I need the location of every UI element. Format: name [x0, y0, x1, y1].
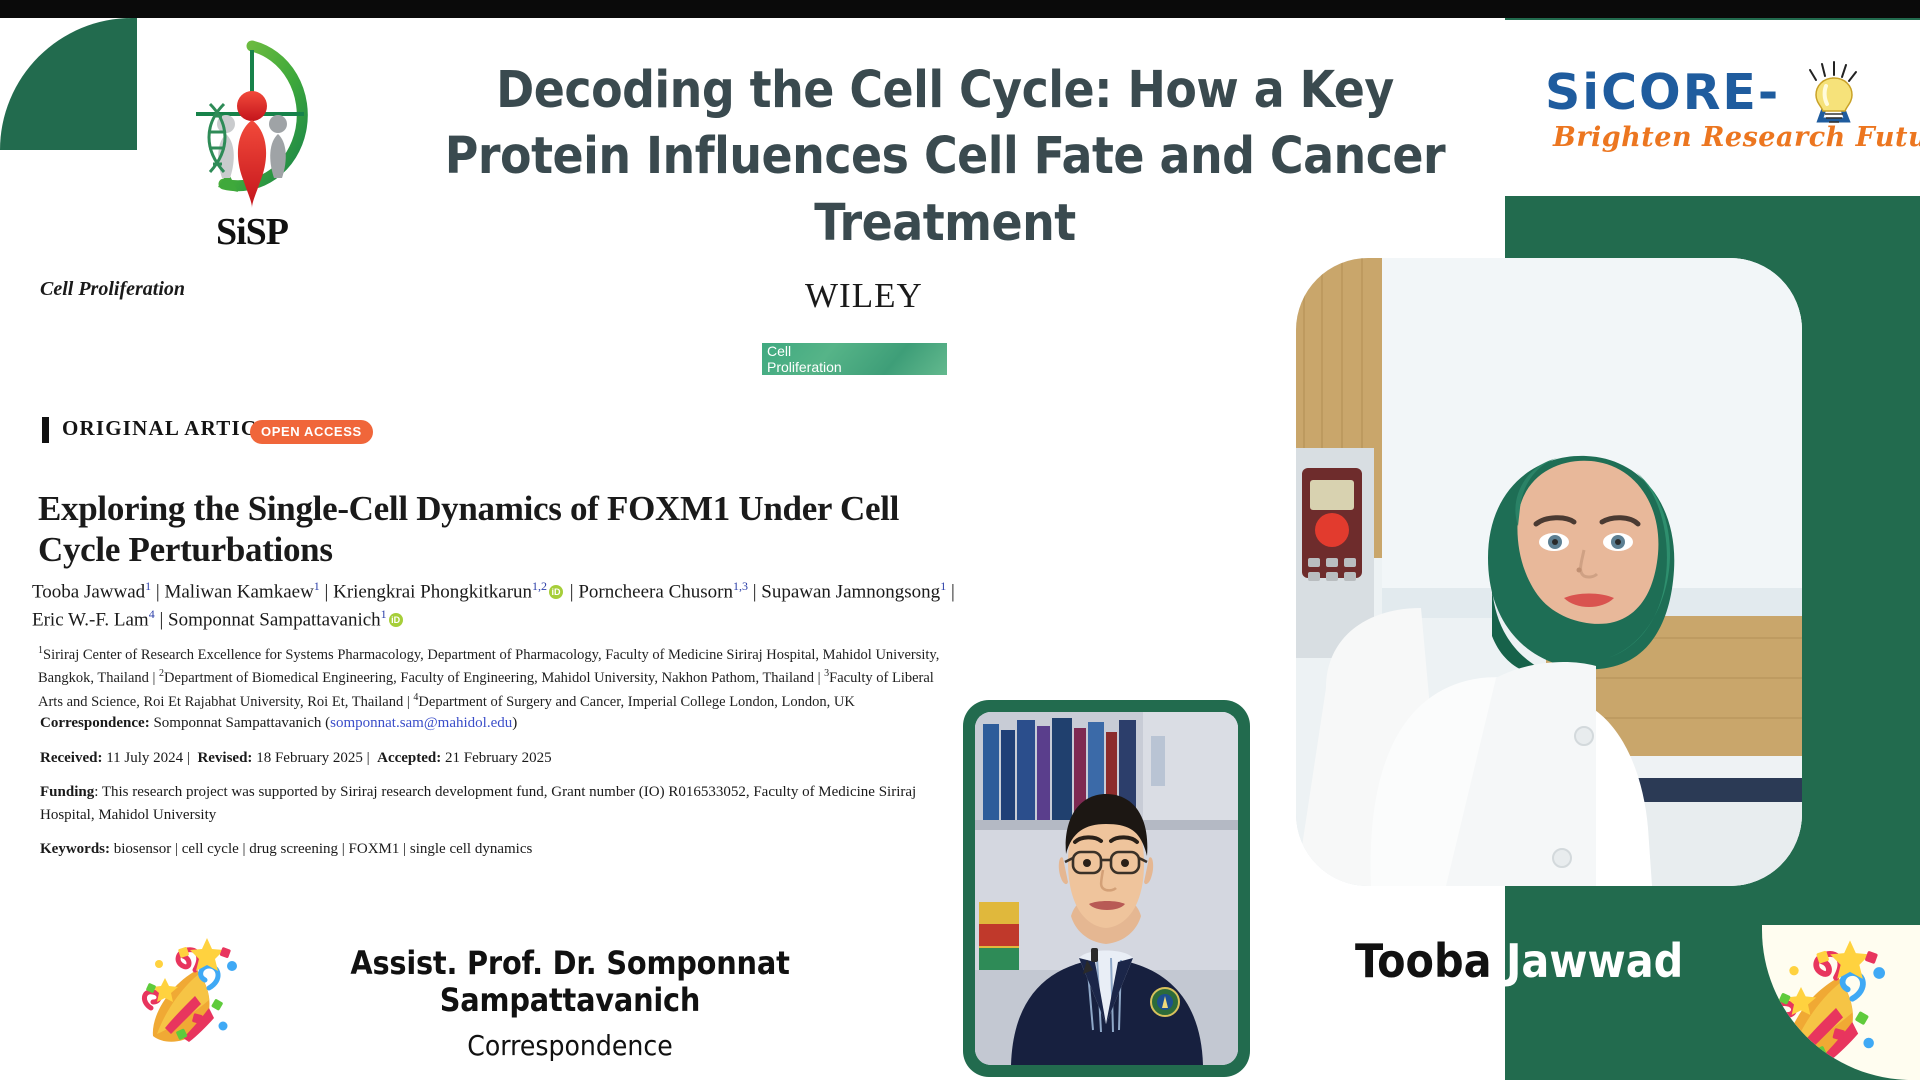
lightbulb-icon — [1800, 60, 1864, 130]
article-type-rule — [42, 417, 49, 443]
author-separator: | — [320, 581, 333, 602]
author-name: Eric W.-F. Lam — [32, 609, 149, 630]
author-separator: | — [151, 581, 164, 602]
top-left-green-corner — [0, 18, 137, 150]
affiliation-text: Department of Surgery and Cancer, Imperi… — [418, 693, 854, 709]
caption-somponnat: Assist. Prof. Dr. Somponnat Sampattavani… — [250, 945, 890, 1062]
author-affiliation-marker: 1,2 — [532, 579, 547, 593]
funding-line: Funding: This research project was suppo… — [40, 781, 960, 826]
accepted-label: Accepted: — [377, 750, 441, 766]
slide-canvas: SiSP Decoding the Cell Cycle: How a Key … — [0, 0, 1920, 1080]
affiliation-separator: | — [814, 670, 824, 686]
caption-somponnat-name: Assist. Prof. Dr. Somponnat Sampattavani… — [250, 945, 890, 1019]
sicore-wordmark: SiCORE- — [1545, 64, 1780, 121]
author-separator: | — [748, 581, 761, 602]
journal-name: Cell Proliferation — [40, 278, 185, 301]
keywords-label: Keywords: — [40, 841, 110, 857]
author-name: Tooba Jawwad — [32, 581, 145, 602]
author-name: Porncheera Chusorn — [578, 581, 733, 602]
caption-tooba: Tooba Jawwad — [1355, 925, 1683, 997]
affiliation-list: 1Siriraj Center of Research Excellence f… — [38, 643, 948, 713]
researcher-photo-frame-somponnat — [963, 700, 1250, 1077]
page-title: Decoding the Cell Cycle: How a Key Prote… — [400, 58, 1490, 257]
keywords-line: Keywords: biosensor | cell cycle | drug … — [40, 838, 960, 861]
orcid-icon[interactable]: iD — [389, 613, 403, 627]
journal-cover-line2: Proliferation — [762, 359, 947, 375]
author-name: Maliwan Kamkaew — [164, 581, 313, 602]
dates-line: Received: 11 July 2024 | Revised: 18 Feb… — [40, 747, 960, 770]
researcher-photo-somponnat — [975, 712, 1238, 1065]
top-black-bar — [0, 0, 1920, 18]
author-name: Supawan Jamnongsong — [761, 581, 940, 602]
revised-date: 18 February 2025 — [256, 750, 363, 766]
journal-cover-thumbnail: Cell Proliferation — [762, 343, 947, 375]
author-affiliation-marker: 1 — [381, 607, 387, 621]
caption-tooba-first: Tooba — [1355, 934, 1492, 988]
correspondence-name: Somponnat Sampattavanich — [153, 715, 321, 731]
correspondence-email[interactable]: somponnat.sam@mahidol.edu — [330, 715, 512, 731]
keywords-text: biosensor | cell cycle | drug screening … — [114, 841, 533, 857]
party-popper-icon-right — [1762, 925, 1920, 1080]
wiley-publisher-logo: WILEY — [805, 276, 923, 316]
paper-metadata: Correspondence: Somponnat Sampattavanich… — [40, 712, 960, 873]
party-popper-icon — [135, 930, 255, 1050]
sicore-m-logo: SiCORE- Brighten Rese — [1545, 36, 1890, 176]
author-name: Kriengkrai Phongkitkarun — [333, 581, 532, 602]
sisp-logo-text: SiSP — [172, 210, 332, 254]
journal-cover-line1: Cell — [762, 343, 947, 359]
caption-tooba-last: Jawwad — [1506, 934, 1683, 988]
open-access-badge: OPEN ACCESS — [250, 420, 373, 444]
caption-somponnat-role: Correspondence — [250, 1029, 890, 1062]
received-label: Received: — [40, 750, 102, 766]
paper-title: Exploring the Single-Cell Dynamics of FO… — [38, 488, 938, 571]
affiliation-separator: | — [149, 670, 159, 686]
researcher-photo-tooba — [1296, 258, 1802, 886]
received-date: 11 July 2024 — [106, 750, 183, 766]
accepted-date: 21 February 2025 — [445, 750, 552, 766]
sicore-tagline: Brighten Research Future — [1553, 122, 1920, 153]
funding-label: Funding — [40, 784, 94, 800]
author-affiliation-marker: 1,3 — [733, 579, 748, 593]
author-name: Somponnat Sampattavanich — [168, 609, 381, 630]
revised-label: Revised: — [197, 750, 252, 766]
author-list: Tooba Jawwad1 | Maliwan Kamkaew1 | Krien… — [32, 578, 962, 634]
author-separator: | — [946, 581, 955, 602]
correspondence-line: Correspondence: Somponnat Sampattavanich… — [40, 712, 960, 735]
author-separator: | — [155, 609, 168, 630]
author-separator: | — [565, 581, 578, 602]
affiliation-separator: | — [403, 693, 413, 709]
correspondence-label: Correspondence: — [40, 715, 150, 731]
affiliation-text: Department of Biomedical Engineering, Fa… — [164, 670, 814, 686]
sisp-target-dna-logo — [172, 32, 332, 217]
funding-text: : This research project was supported by… — [40, 784, 916, 823]
orcid-icon[interactable]: iD — [549, 585, 563, 599]
